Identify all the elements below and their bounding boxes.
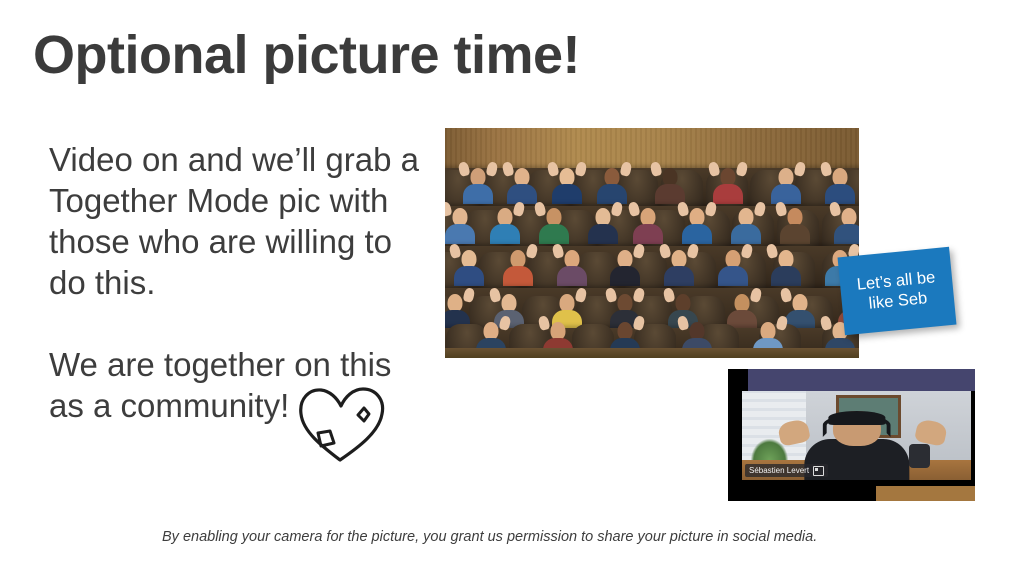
body-paragraph-1: Video on and we’ll grab a Together Mode … bbox=[49, 139, 421, 303]
heart-sparkle-icon bbox=[293, 381, 389, 465]
webcam-video-tile: Sébastien Levert bbox=[728, 369, 975, 501]
sticky-note-callout: Let’s all be like Seb bbox=[838, 247, 957, 335]
footer-disclaimer: By enabling your camera for the picture,… bbox=[162, 529, 817, 545]
cap bbox=[828, 411, 885, 424]
screen-share-icon bbox=[813, 466, 824, 476]
auditorium-floor bbox=[445, 348, 859, 358]
page-title: Optional picture time! bbox=[33, 24, 580, 86]
teams-titlebar bbox=[748, 369, 975, 391]
together-mode-auditorium-photo bbox=[445, 128, 859, 358]
participant-name-badge: Sébastien Levert bbox=[745, 464, 828, 477]
microphone bbox=[909, 444, 930, 467]
sticky-note-text: Let’s all be like Seb bbox=[856, 267, 938, 314]
slide-canvas: Optional picture time! Video on and we’l… bbox=[0, 0, 1024, 576]
participant-name-label: Sébastien Levert bbox=[749, 464, 809, 477]
tile-bottom-strip-accent bbox=[876, 486, 975, 501]
